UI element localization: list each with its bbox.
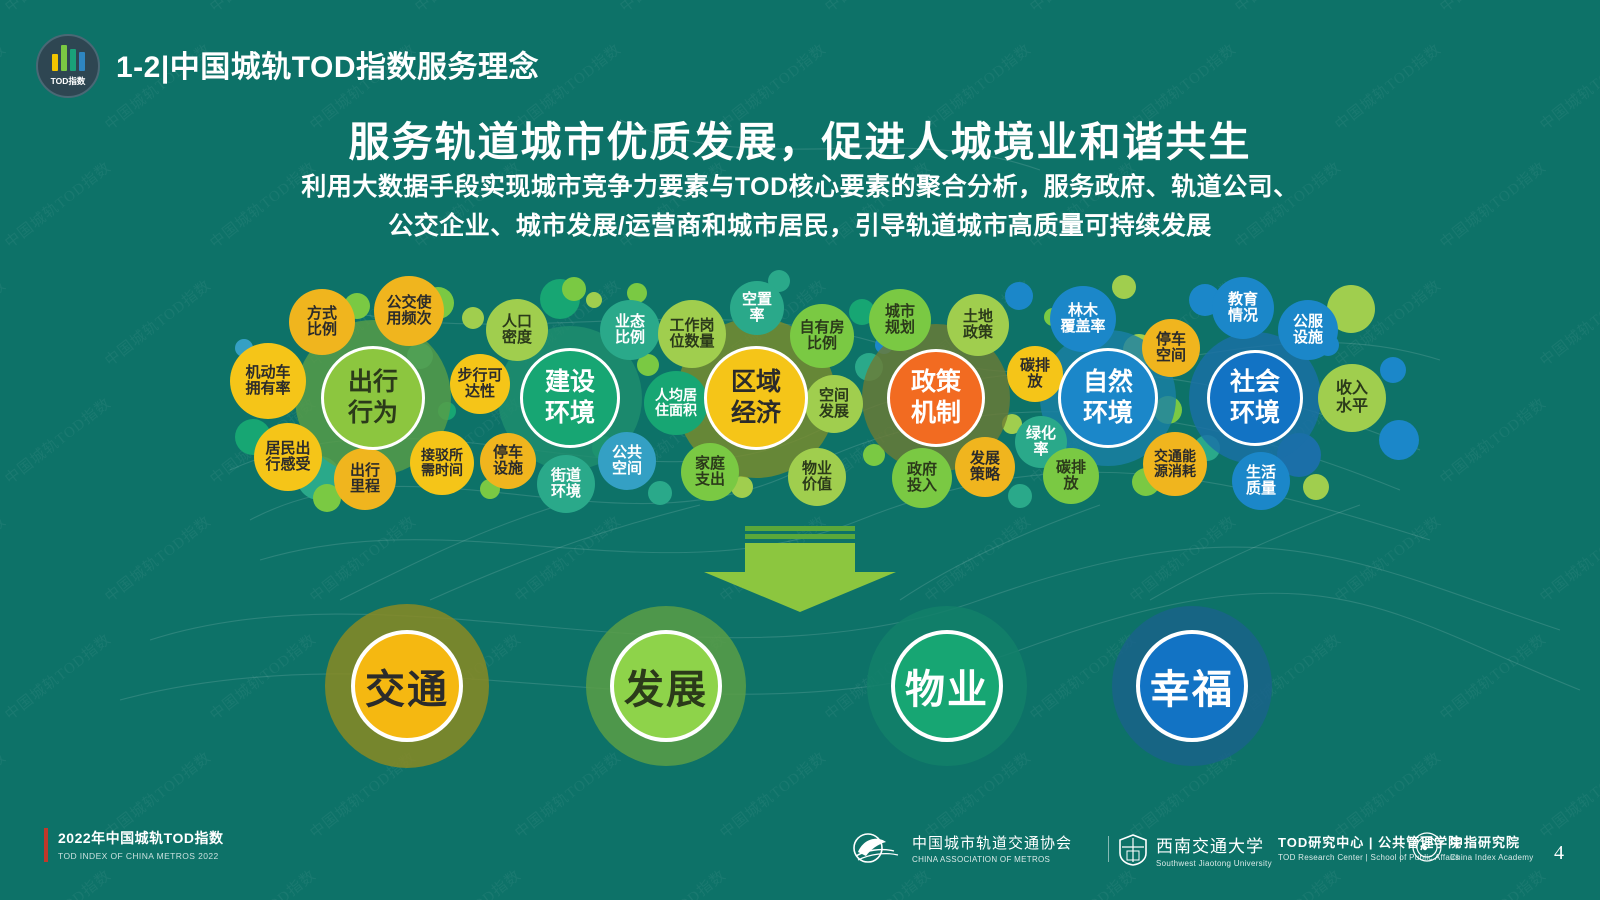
outcome-circle[interactable]: 幸福 [1136,630,1248,742]
subtitle-line-2: 公交企业、城市发展/运营商和城市居民，引导轨道城市高质量可持续发展 [0,207,1600,246]
slide-footer: 2022年中国城轨TOD指数 TOD INDEX OF CHINA METROS… [0,806,1600,900]
bar-chart-icon [52,45,85,71]
southwest-jiaotong-university-logo [1118,834,1148,866]
page-title: 1-2|中国城轨TOD指数服务理念 [116,42,539,86]
outcome-circle-label: 幸福 [1150,657,1234,715]
outcome-circle-label: 交通 [365,657,449,715]
footer-brand: 2022年中国城轨TOD指数 TOD INDEX OF CHINA METROS… [44,828,223,862]
footer-logo-swjtu-cn: 西南交通大学 [1156,832,1272,857]
footer-logo-cia: 中指研究院 China Index Academy [1412,832,1534,862]
footer-logo-cia-en: China Index Academy [1450,853,1534,862]
outcome-circle-label: 发展 [624,657,708,715]
outcome-circle[interactable]: 交通 [351,630,463,742]
footer-logo-cam-en: CHINA ASSOCIATION OF METROS [912,855,1072,864]
slide-root: 中国城轨TOD指数中国城轨TOD指数中国城轨TOD指数中国城轨TOD指数中国城轨… [0,0,1600,900]
footer-logo-cia-cn: 中指研究院 [1450,832,1534,851]
slide-header: TOD指数 1-2|中国城轨TOD指数服务理念 [0,0,1600,108]
footer-divider-2 [1400,836,1401,862]
footer-logo-swjtu: 西南交通大学 Southwest Jiaotong University [1118,832,1272,868]
footer-logo-cam-cn: 中国城市轨道交通协会 [912,832,1072,853]
footer-logo-swjtu-en: Southwest Jiaotong University [1156,859,1272,868]
china-index-academy-logo [1412,832,1442,862]
outcome-circle[interactable]: 发展 [610,630,722,742]
footer-title-en: TOD INDEX OF CHINA METROS 2022 [58,851,223,861]
footer-divider-1 [1108,836,1109,862]
tod-index-logo: TOD指数 [36,34,100,98]
logo-caption: TOD指数 [51,75,86,87]
main-title: 服务轨道城市优质发展，促进人城境业和谐共生 [0,108,1600,168]
page-number: 4 [1554,842,1564,865]
subtitle: 利用大数据手段实现城市竞争力要素与TOD核心要素的聚合分析，服务政府、轨道公司、… [0,168,1600,246]
subtitle-line-1: 利用大数据手段实现城市竞争力要素与TOD核心要素的聚合分析，服务政府、轨道公司、 [0,168,1600,207]
outcome-circle-label: 物业 [905,657,989,715]
china-association-of-metros-logo [852,832,904,864]
footer-title-cn: 2022年中国城轨TOD指数 [58,828,223,848]
outcome-circle[interactable]: 物业 [891,630,1003,742]
footer-logo-cam: 中国城市轨道交通协会 CHINA ASSOCIATION OF METROS [852,832,1072,864]
footer-accent-bar [44,828,48,862]
